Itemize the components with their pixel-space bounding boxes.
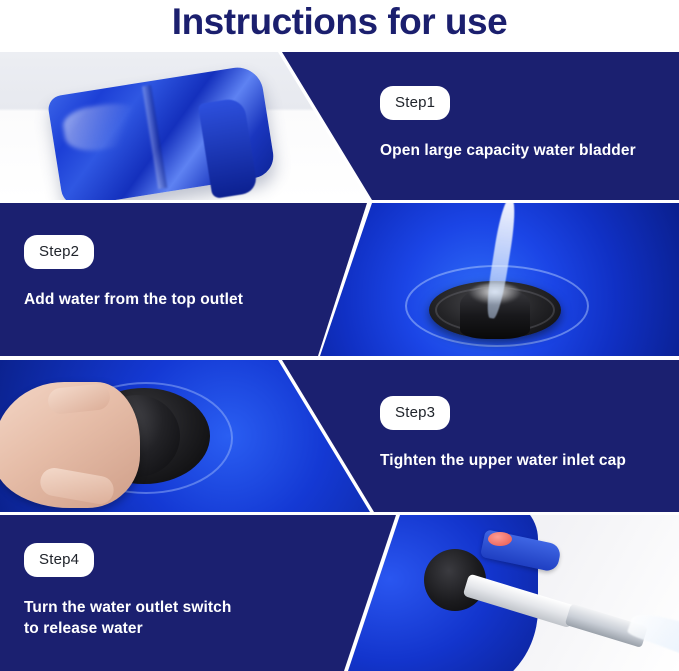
step-row-2: Step2 Add water from the top outlet <box>0 203 679 356</box>
instructions-infographic: Instructions for use Step1 Open large ca… <box>0 0 679 671</box>
water-inlet-photo <box>310 203 679 356</box>
step-4-caption: Turn the water outlet switch to release … <box>24 597 231 639</box>
page-title: Instructions for use <box>0 0 679 46</box>
step-row-1: Step1 Open large capacity water bladder <box>0 52 679 200</box>
valve-knob <box>488 532 512 546</box>
step-1-caption: Open large capacity water bladder <box>380 140 636 161</box>
step-1-badge: Step1 <box>380 86 450 120</box>
step-3-badge: Step3 <box>380 396 450 430</box>
step-2-image <box>310 203 679 356</box>
step-2-badge: Step2 <box>24 235 94 269</box>
step-row-3: Step3 Tighten the upper water inlet cap <box>0 360 679 512</box>
step-2-text-panel: Step2 Add water from the top outlet <box>0 203 380 356</box>
step-4-badge: Step4 <box>24 543 94 577</box>
step-2-caption: Add water from the top outlet <box>24 289 243 310</box>
step-4-text-panel: Step4 Turn the water outlet switch to re… <box>0 515 400 671</box>
step-row-4: Step4 Turn the water outlet switch to re… <box>0 515 679 671</box>
step-3-caption: Tighten the upper water inlet cap <box>380 450 626 471</box>
